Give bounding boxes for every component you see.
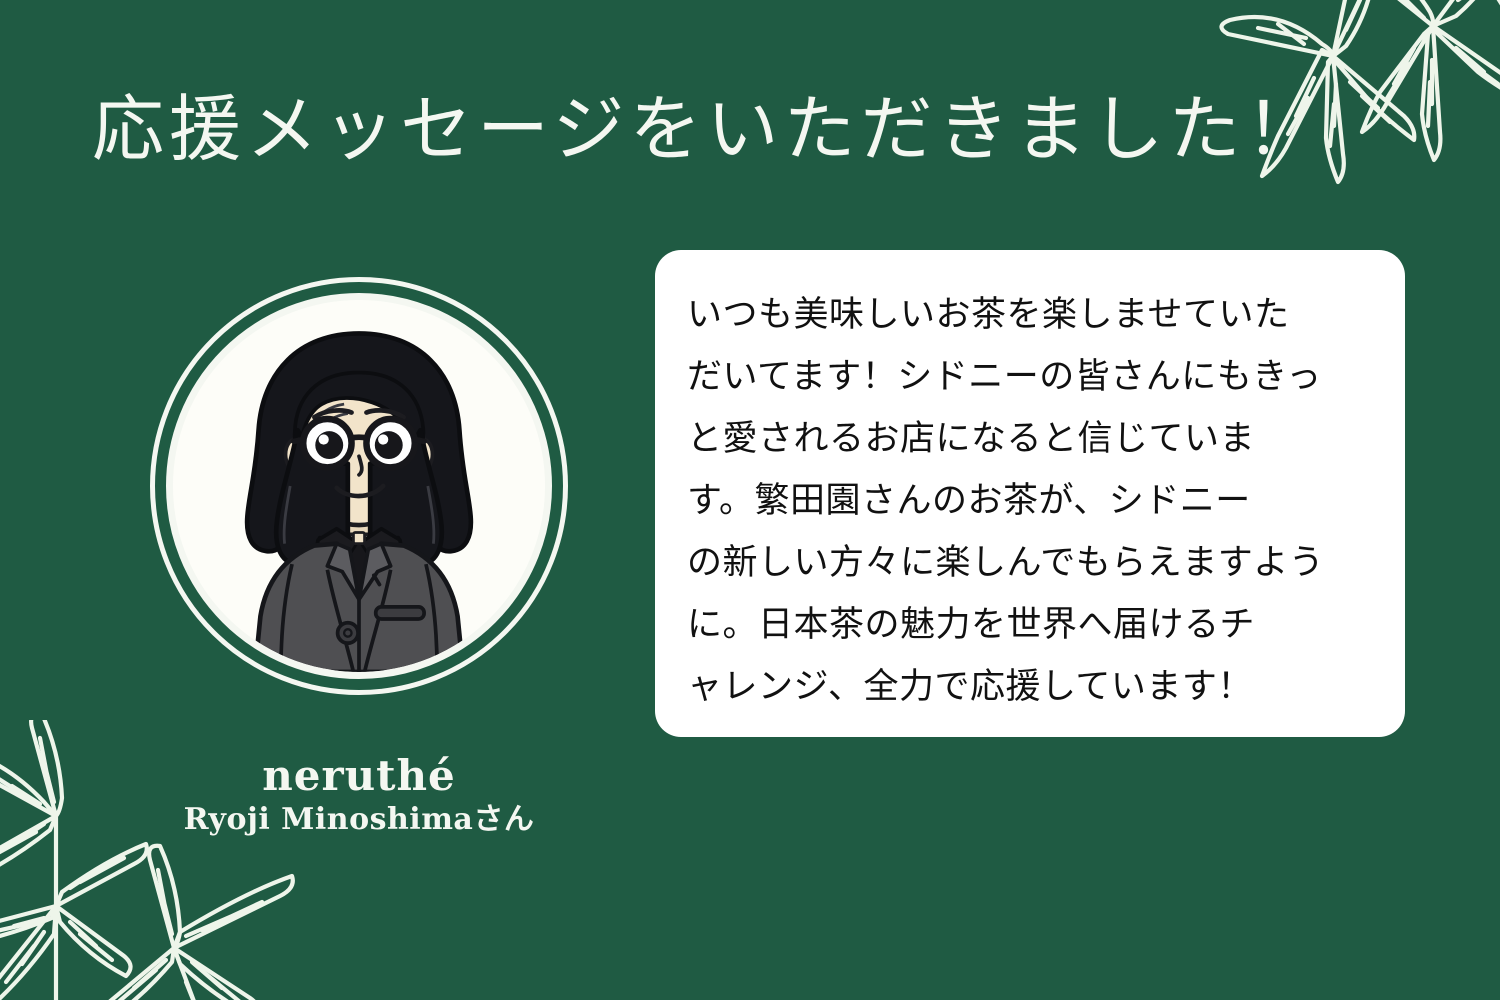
brand-name: neruthé [150,752,568,799]
profile-name-block: neruthé Ryoji Minoshimaさん [150,752,568,838]
avatar-portrait-icon [173,300,545,672]
message-line: いつも美味しいお茶を楽しませていた [687,284,1367,346]
message-card: いつも美味しいお茶を楽しませていた だいてます！シドニーの皆さんにもきっ と愛さ… [655,250,1405,737]
page-title: 応援メッセージをいただきました！ [92,92,1323,168]
message-line: す。繁田園さんのお茶が、シドニー [687,470,1367,532]
message-line: の新しい方々に楽しんでもらえますよう [687,532,1367,594]
message-line: と愛されるお店になると信じていま [687,408,1367,470]
message-line: ャレンジ、全力で応援しています！ [687,656,1367,718]
poster-canvas: 応援メッセージをいただきました！ [0,0,1500,1000]
message-line: だいてます！シドニーの皆さんにもきっ [687,346,1367,408]
person-name: Ryoji Minoshimaさん [150,803,568,838]
message-line: に。日本茶の魅力を世界へ届けるチ [687,594,1367,656]
avatar [150,277,568,695]
avatar-ring-inner [166,293,552,679]
